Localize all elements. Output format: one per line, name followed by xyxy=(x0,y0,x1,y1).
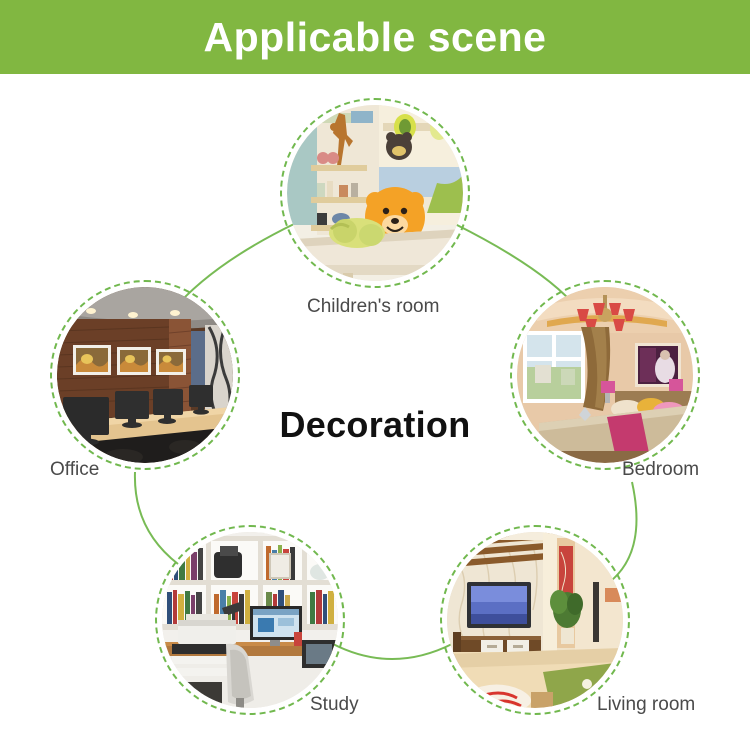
living-room-illustration xyxy=(447,532,623,708)
study-illustration xyxy=(162,532,338,708)
childrens-room-photo xyxy=(287,105,463,281)
scene-node-study[interactable] xyxy=(162,532,338,708)
scene-label-childrens-room: Children's room xyxy=(307,296,439,318)
header-banner: Applicable scene xyxy=(0,0,750,74)
scene-label-bedroom: Bedroom xyxy=(622,459,699,481)
childrens-room-illustration xyxy=(287,105,463,281)
scene-label-living-room: Living room xyxy=(597,694,695,716)
page-title: Applicable scene xyxy=(204,17,547,58)
applicable-scene-diagram: Children's room xyxy=(0,74,750,750)
scene-node-childrens-room[interactable] xyxy=(287,105,463,281)
living-room-photo xyxy=(447,532,623,708)
scene-label-study: Study xyxy=(310,694,359,716)
study-photo xyxy=(162,532,338,708)
connector-living-study xyxy=(333,644,452,659)
scene-node-living-room[interactable] xyxy=(447,532,623,708)
scene-label-office: Office xyxy=(50,459,99,481)
center-title: Decoration xyxy=(0,404,750,446)
